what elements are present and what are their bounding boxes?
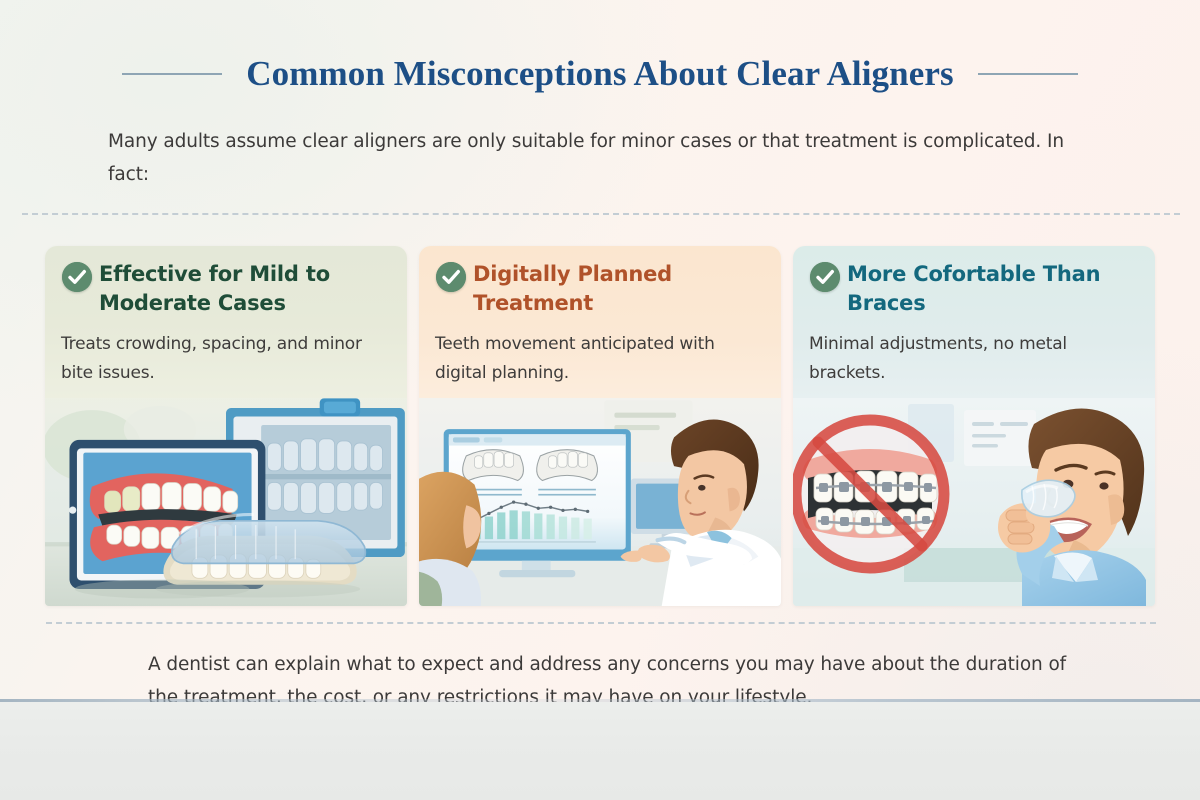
card-digitally-planned[interactable]: Digitally Planned Treatment Teeth moveme… [419, 246, 781, 606]
intro-paragraph: Many adults assume clear aligners are on… [108, 125, 1108, 191]
title-rule-right [978, 73, 1078, 75]
footer-band [0, 702, 1200, 800]
card-title: Digitally Planned Treatment [435, 260, 763, 318]
card-mild-to-moderate[interactable]: Effective for Mild to Moderate Cases Tre… [45, 246, 407, 606]
tablet-xray-aligner-model-illustration [45, 398, 407, 606]
card-header: Effective for Mild to Moderate Cases [45, 246, 407, 324]
infographic-page: Common Misconceptions About Clear Aligne… [0, 0, 1200, 800]
card-row: Effective for Mild to Moderate Cases Tre… [45, 246, 1155, 606]
check-circle-icon [810, 262, 840, 292]
dentist-patient-monitor-illustration [419, 398, 781, 606]
card-header: More Cofortable Than Braces [793, 246, 1155, 324]
check-circle-icon [436, 262, 466, 292]
card-header: Digitally Planned Treatment [419, 246, 781, 324]
card-body: Minimal adjustments, no metal brackets. [793, 324, 1155, 388]
page-title: Common Misconceptions About Clear Aligne… [246, 54, 953, 94]
content-canvas: Common Misconceptions About Clear Aligne… [0, 0, 1200, 702]
card-body: Treats crowding, spacing, and minor bite… [45, 324, 407, 388]
title-row: Common Misconceptions About Clear Aligne… [0, 48, 1200, 100]
card-title: Effective for Mild to Moderate Cases [61, 260, 389, 318]
no-braces-man-with-aligner-illustration [793, 398, 1155, 606]
card-title: More Cofortable Than Braces [809, 260, 1137, 318]
divider-top [22, 213, 1180, 215]
card-more-comfortable[interactable]: More Cofortable Than Braces Minimal adju… [793, 246, 1155, 606]
check-circle-icon [62, 262, 92, 292]
card-body: Teeth movement anticipated with digital … [419, 324, 781, 388]
outro-paragraph: A dentist can explain what to expect and… [148, 648, 1098, 702]
divider-bottom [46, 622, 1156, 624]
title-rule-left [122, 73, 222, 75]
